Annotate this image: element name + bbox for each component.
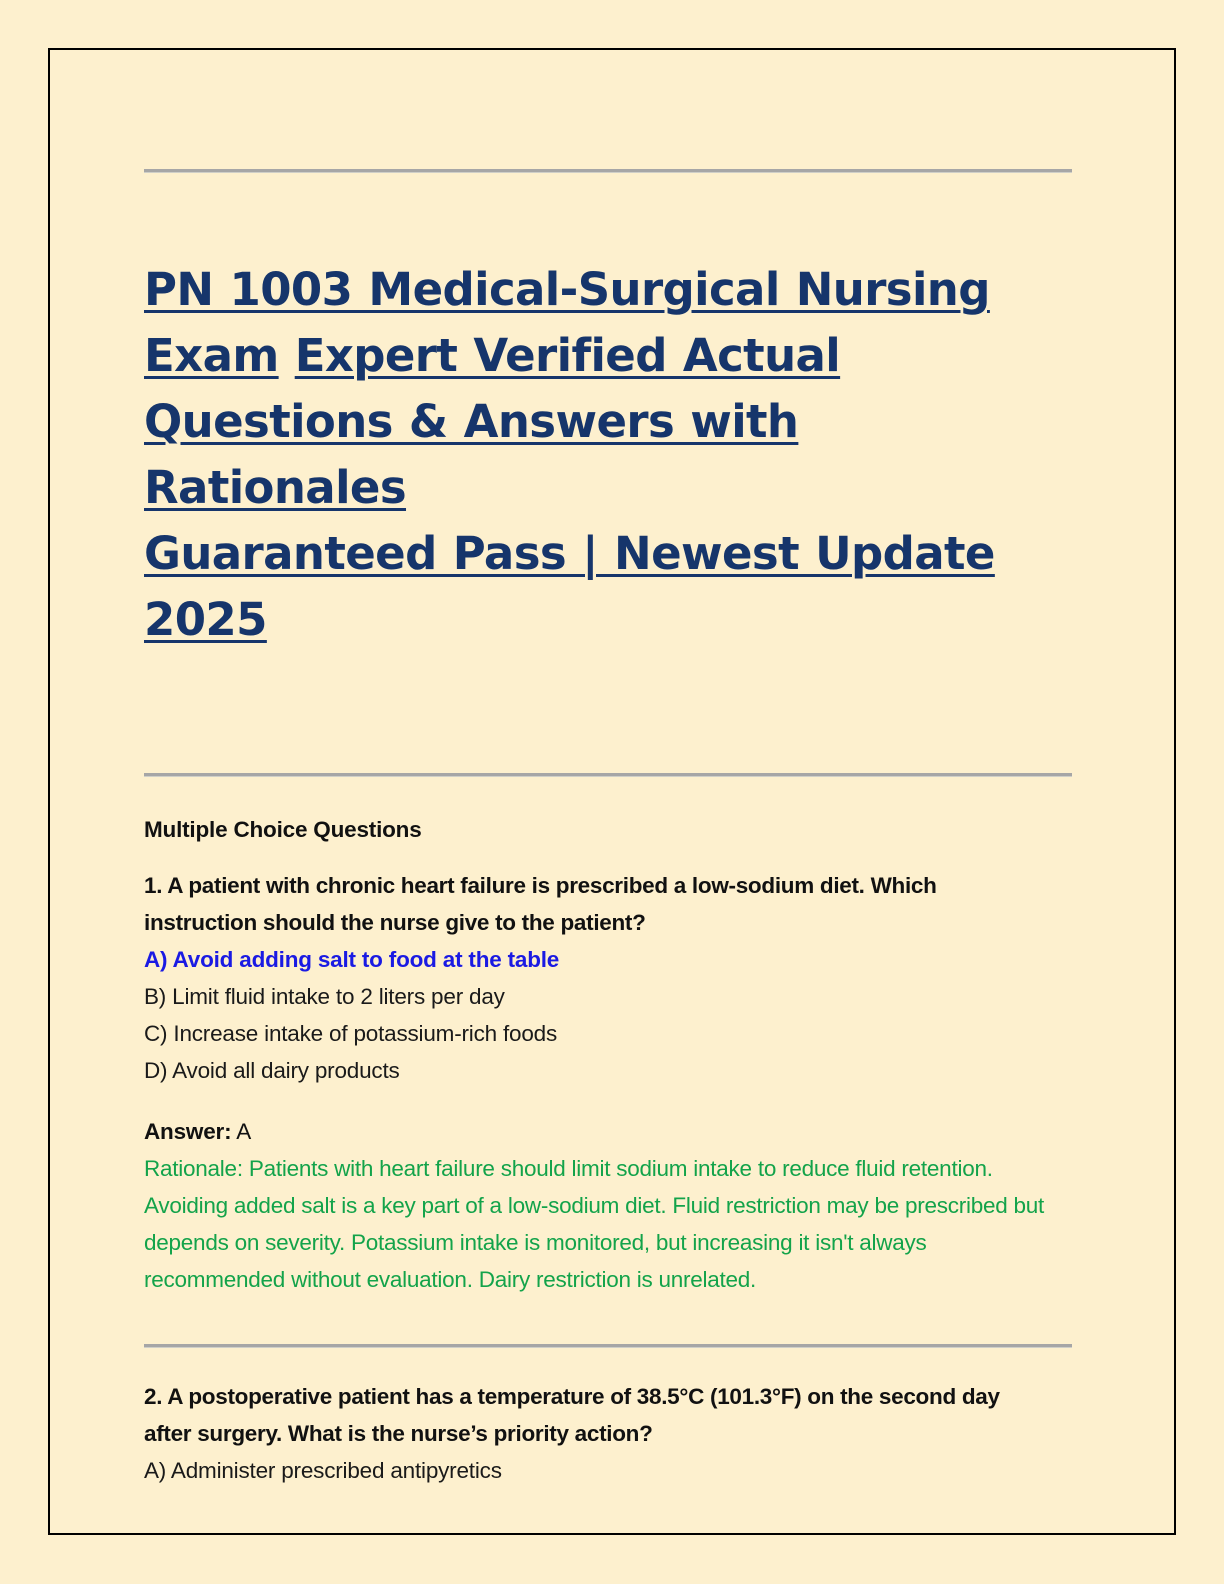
spacer-before-question-2	[144, 1298, 1074, 1344]
answer-line: Answer: A	[144, 1113, 1074, 1150]
title-link-line-4[interactable]: Guaranteed Pass | Newest Update	[144, 527, 995, 580]
divider-top	[144, 169, 1072, 173]
option-b[interactable]: B) Limit fluid intake to 2 liters per da…	[144, 978, 1074, 1015]
page-content: PN 1003 Medical-Surgical Nursing Exam Ex…	[144, 50, 1074, 1489]
answer-label: Answer:	[144, 1119, 231, 1144]
title-spacer	[144, 653, 1074, 773]
question-block-1: 1. A patient with chronic heart failure …	[144, 867, 1074, 1298]
question-stem: 1. A patient with chronic heart failure …	[144, 867, 1049, 941]
answer-value: A	[236, 1119, 251, 1144]
title-link-line-1[interactable]: PN 1003 Medical-Surgical Nursing	[144, 263, 990, 316]
question-stem-2: 2. A postoperative patient has a tempera…	[144, 1378, 1049, 1452]
page-title: PN 1003 Medical-Surgical Nursing Exam Ex…	[144, 257, 1074, 653]
title-link-line-3[interactable]: Questions & Answers with Rationales	[144, 395, 798, 514]
title-link-line-5[interactable]: 2025	[144, 593, 267, 646]
rationale-text: Rationale: Patients with heart failure s…	[144, 1150, 1064, 1298]
title-link-line-2b[interactable]: Expert Verified Actual	[295, 329, 840, 382]
divider-under-title	[144, 773, 1072, 777]
spacer-after-divider	[144, 1348, 1074, 1378]
option-a[interactable]: A) Avoid adding salt to food at the tabl…	[144, 941, 1074, 978]
section-heading: Multiple Choice Questions	[144, 815, 1074, 845]
option-c[interactable]: C) Increase intake of potassium-rich foo…	[144, 1015, 1074, 1052]
page-frame: PN 1003 Medical-Surgical Nursing Exam Ex…	[48, 48, 1176, 1535]
option-d[interactable]: D) Avoid all dairy products	[144, 1052, 1074, 1089]
title-link-line-2a[interactable]: Exam	[144, 329, 279, 382]
option-a-q2[interactable]: A) Administer prescribed antipyretics	[144, 1452, 1074, 1489]
question-block-2: 2. A postoperative patient has a tempera…	[144, 1378, 1074, 1489]
doc-title-text: PN 1003 Medical-Surgical Nursing Exam Ex…	[144, 257, 1074, 653]
